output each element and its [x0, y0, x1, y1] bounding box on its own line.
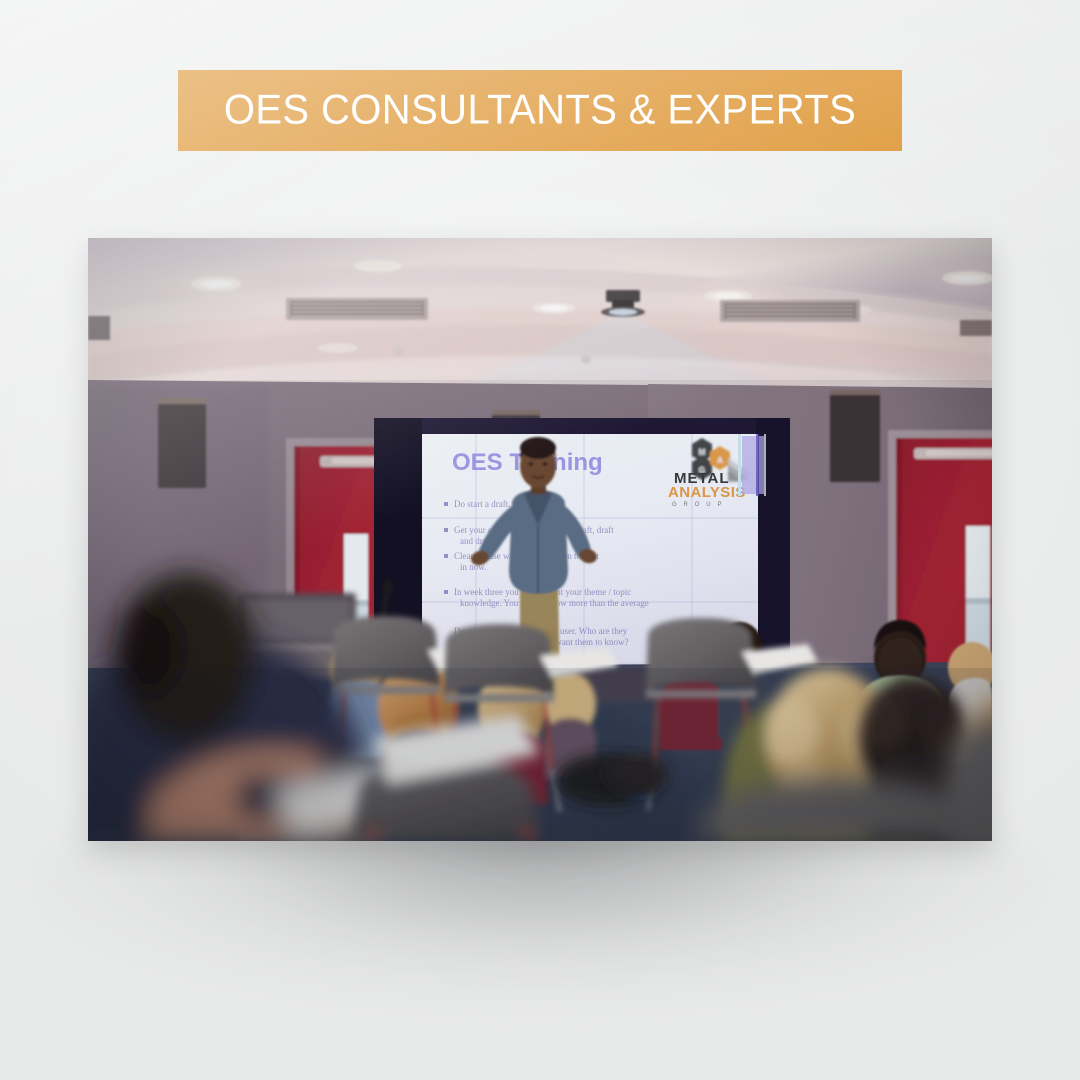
- banner-title-text: OES CONSULTANTS & EXPERTS: [224, 87, 856, 134]
- poster-canvas: OES CONSULTANTS & EXPERTS: [0, 0, 1080, 1080]
- lecture-photo: OES Training Do start a draft. Get your …: [88, 238, 992, 841]
- photo-illustration: OES Training Do start a draft. Get your …: [88, 238, 992, 841]
- title-banner: OES CONSULTANTS & EXPERTS: [178, 70, 902, 151]
